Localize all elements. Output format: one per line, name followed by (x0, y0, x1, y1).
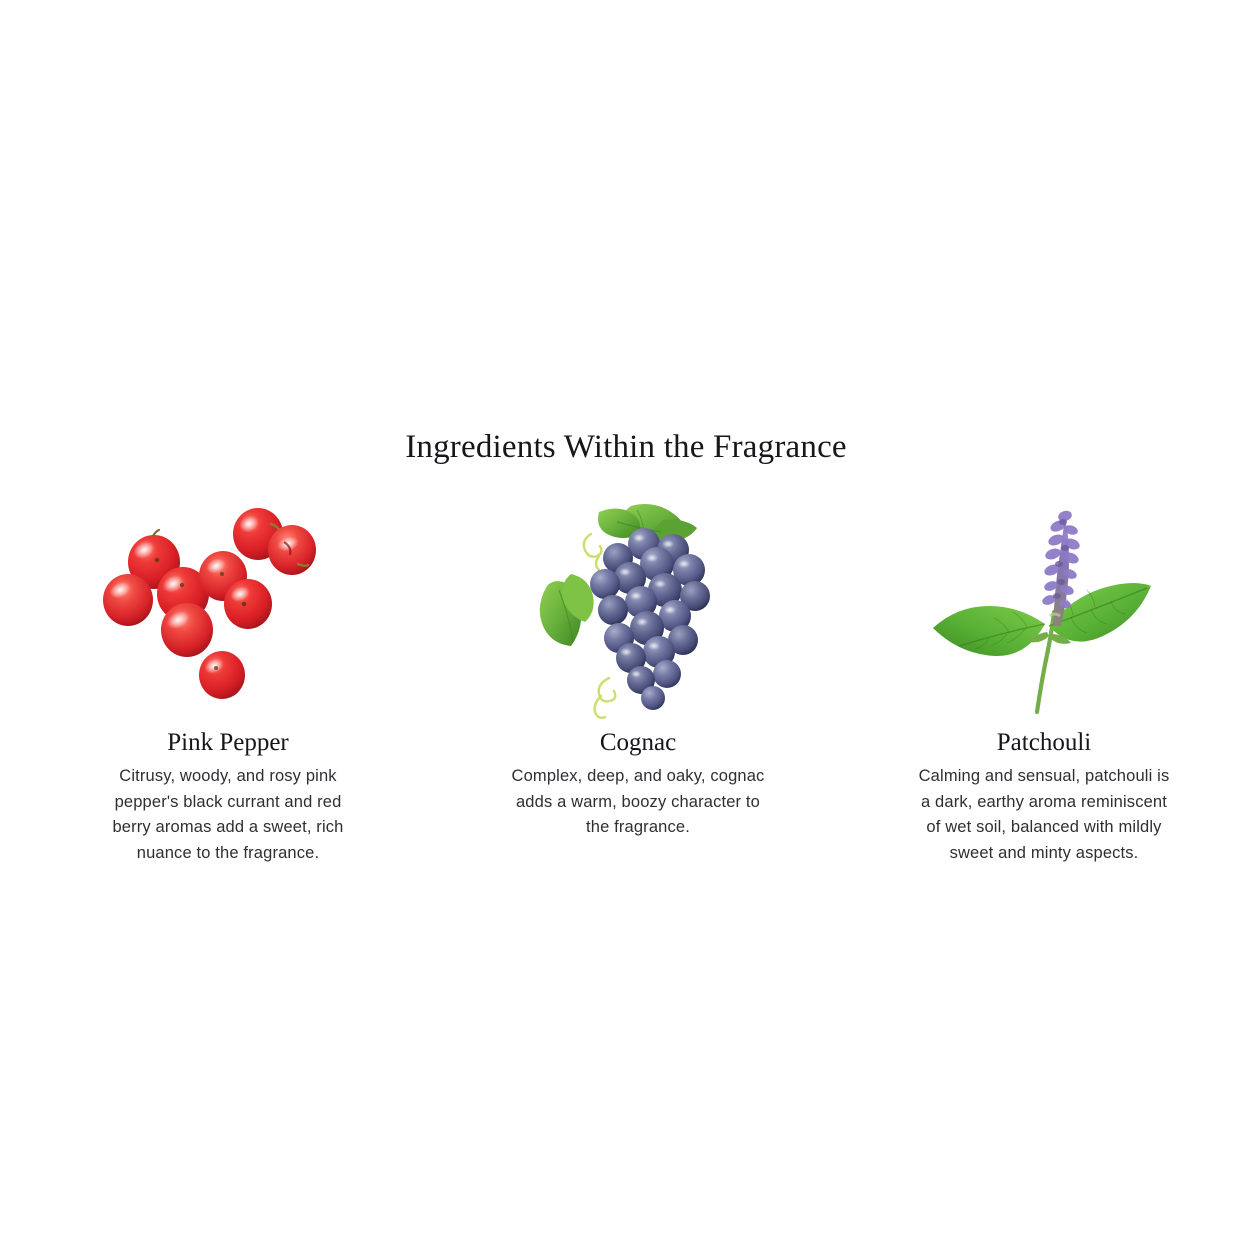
peppercorn (161, 603, 213, 657)
fragrance-ingredients-page: Ingredients Within the Fragrance (0, 0, 1252, 1252)
patchouli-plant-image (919, 498, 1169, 720)
pink-peppercorns-image (103, 498, 353, 720)
ingredient-card-patchouli: Patchouli Calming and sensual, patchouli… (874, 498, 1214, 866)
grape-cluster-image (513, 498, 763, 720)
grape-leaf (540, 574, 594, 646)
ingredient-name: Pink Pepper (167, 728, 289, 758)
ingredient-description: Citrusy, woody, and rosy pink pepper's b… (101, 764, 356, 866)
ingredient-description: Calming and sensual, patchouli is a dark… (916, 764, 1172, 866)
ingredient-name: Patchouli (997, 728, 1091, 758)
peppercorn (224, 579, 272, 629)
peppercorn (103, 574, 153, 626)
patchouli-leaf (933, 606, 1045, 656)
peppercorn (199, 651, 245, 699)
ingredient-card-cognac: Cognac Complex, deep, and oaky, cognac a… (468, 498, 808, 866)
peppercorn (268, 525, 316, 575)
ingredient-description: Complex, deep, and oaky, cognac adds a w… (508, 764, 768, 841)
ingredient-name: Cognac (600, 728, 676, 758)
page-title: Ingredients Within the Fragrance (0, 427, 1252, 467)
ingredient-card-pink-pepper: Pink Pepper Citrusy, woody, and rosy pin… (58, 498, 398, 866)
grape-bunch (590, 528, 710, 710)
ingredient-columns: Pink Pepper Citrusy, woody, and rosy pin… (0, 498, 1252, 866)
